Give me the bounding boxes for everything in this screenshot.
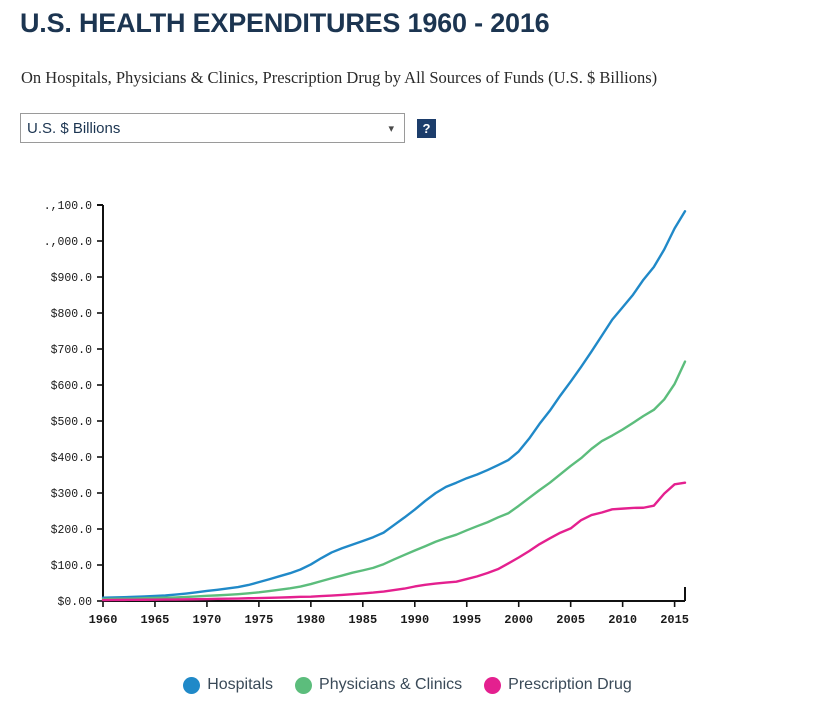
- legend-item-prescription-drug[interactable]: Prescription Drug: [484, 676, 632, 694]
- x-axis-tick-label: 2005: [556, 613, 585, 627]
- legend-label: Physicians & Clinics: [319, 676, 462, 694]
- line-chart: $0.00$100.0$200.0$300.0$400.0$500.0$600.…: [0, 155, 815, 655]
- x-axis-tick-label: 1975: [244, 613, 273, 627]
- chart-container: $0.00$100.0$200.0$300.0$400.0$500.0$600.…: [0, 155, 815, 655]
- y-axis-tick-label: .,000.0: [44, 236, 92, 249]
- axis-lines: [97, 205, 685, 601]
- x-axis-tick-label: 2000: [504, 613, 533, 627]
- y-axis-tick-label: $600.0: [51, 380, 93, 393]
- y-axis-tick-label: $0.00: [57, 596, 92, 609]
- y-axis-tick-label: $500.0: [51, 416, 93, 429]
- unit-select[interactable]: U.S. $ Billions ▾: [20, 113, 405, 143]
- x-axis-ticks: 1960196519701975198019851990199520002005…: [89, 601, 689, 627]
- series-line: [103, 483, 685, 600]
- y-axis-tick-label: $300.0: [51, 488, 93, 501]
- series-line: [103, 211, 685, 597]
- x-axis-tick-label: 1995: [452, 613, 481, 627]
- page-title: U.S. HEALTH EXPENDITURES 1960 - 2016: [20, 8, 549, 39]
- x-axis-tick-label: 1985: [348, 613, 377, 627]
- chart-legend: Hospitals Physicians & Clinics Prescript…: [0, 676, 815, 694]
- legend-item-physicians-clinics[interactable]: Physicians & Clinics: [295, 676, 462, 694]
- x-axis-tick-label: 1965: [141, 613, 170, 627]
- legend-label: Hospitals: [207, 676, 273, 694]
- y-axis-tick-label: $400.0: [51, 452, 93, 465]
- x-axis-tick-label: 2015: [660, 613, 689, 627]
- x-axis-tick-label: 1970: [193, 613, 222, 627]
- x-axis-tick-label: 1960: [89, 613, 118, 627]
- legend-swatch-icon: [295, 677, 312, 694]
- legend-swatch-icon: [183, 677, 200, 694]
- series-lines: [103, 211, 685, 600]
- y-axis-tick-label: $100.0: [51, 560, 93, 573]
- series-line: [103, 362, 685, 599]
- legend-item-hospitals[interactable]: Hospitals: [183, 676, 273, 694]
- y-axis-tick-label: $700.0: [51, 344, 93, 357]
- legend-swatch-icon: [484, 677, 501, 694]
- y-axis-ticks: $0.00$100.0$200.0$300.0$400.0$500.0$600.…: [44, 200, 103, 609]
- chart-controls: U.S. $ Billions ▾ ?: [20, 113, 436, 143]
- x-axis-tick-label: 2010: [608, 613, 637, 627]
- unit-select-value: U.S. $ Billions: [27, 121, 120, 136]
- y-axis-tick-label: .,100.0: [44, 200, 92, 213]
- y-axis-tick-label: $800.0: [51, 308, 93, 321]
- x-axis-tick-label: 1990: [400, 613, 429, 627]
- chart-subtitle: On Hospitals, Physicians & Clinics, Pres…: [21, 68, 657, 88]
- chevron-down-icon: ▾: [388, 122, 398, 135]
- y-axis-tick-label: $200.0: [51, 524, 93, 537]
- y-axis-tick-label: $900.0: [51, 272, 93, 285]
- x-axis-tick-label: 1980: [296, 613, 325, 627]
- legend-label: Prescription Drug: [508, 676, 632, 694]
- help-button[interactable]: ?: [417, 119, 436, 138]
